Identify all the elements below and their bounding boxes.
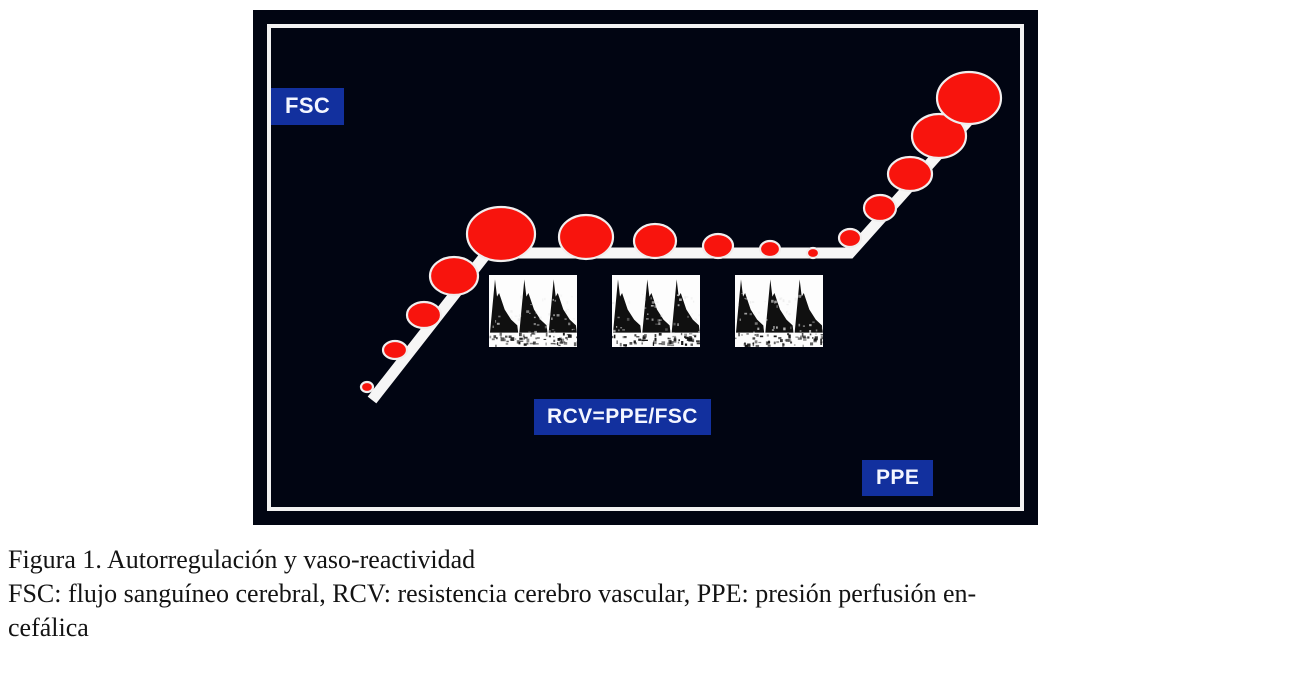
figure-panel: FSC RCV=PPE/FSC PPE bbox=[253, 10, 1038, 525]
caption-line-continuation: cefálica bbox=[8, 611, 1286, 645]
figure-caption: Figura 1. Autorregulación y vaso-reactiv… bbox=[8, 543, 1286, 644]
doppler-waveform-thumbnail bbox=[735, 275, 823, 347]
vessel-circle bbox=[703, 234, 733, 258]
vessel-circle bbox=[634, 224, 676, 258]
axis-label-ppe: PPE bbox=[862, 460, 933, 496]
vessel-circle bbox=[407, 302, 441, 328]
vessel-circle bbox=[937, 72, 1001, 124]
autoregulation-curve-plot bbox=[253, 10, 1038, 525]
vessel-circle bbox=[430, 257, 478, 295]
vessel-circle bbox=[383, 341, 407, 359]
vessel-circle bbox=[888, 157, 932, 191]
caption-line-abbreviations: FSC: flujo sanguíneo cerebral, RCV: resi… bbox=[8, 577, 1286, 611]
vessel-circle bbox=[864, 195, 896, 221]
vessel-circle bbox=[807, 248, 819, 258]
vessel-circle bbox=[760, 241, 780, 257]
caption-line-title: Figura 1. Autorregulación y vaso-reactiv… bbox=[8, 543, 1286, 577]
doppler-waveform-thumbnail bbox=[489, 275, 577, 347]
doppler-waveform-thumbnail bbox=[612, 275, 700, 347]
vessel-circle bbox=[839, 229, 861, 247]
axis-label-fsc: FSC bbox=[271, 88, 344, 125]
autoregulation-curve bbox=[372, 102, 985, 400]
vessel-circle bbox=[559, 215, 613, 259]
vessel-circle bbox=[361, 382, 373, 392]
formula-label-rcv: RCV=PPE/FSC bbox=[534, 399, 711, 435]
curve-polyline bbox=[372, 102, 985, 400]
vessel-circle bbox=[467, 207, 535, 261]
